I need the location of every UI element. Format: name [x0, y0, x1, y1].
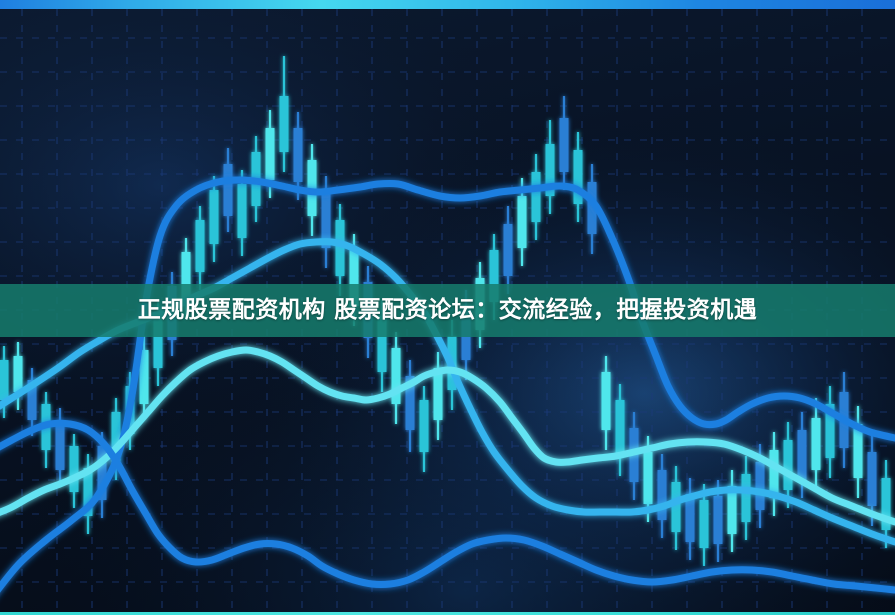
page-title: 正规股票配资机构 股票配资论坛：交流经验，把握投资机遇	[138, 299, 758, 322]
headline-band: 正规股票配资机构 股票配资论坛：交流经验，把握投资机遇	[0, 284, 895, 337]
banner-stage: 正规股票配资机构 股票配资论坛：交流经验，把握投资机遇	[0, 0, 895, 615]
top-accent-rule	[0, 0, 895, 9]
